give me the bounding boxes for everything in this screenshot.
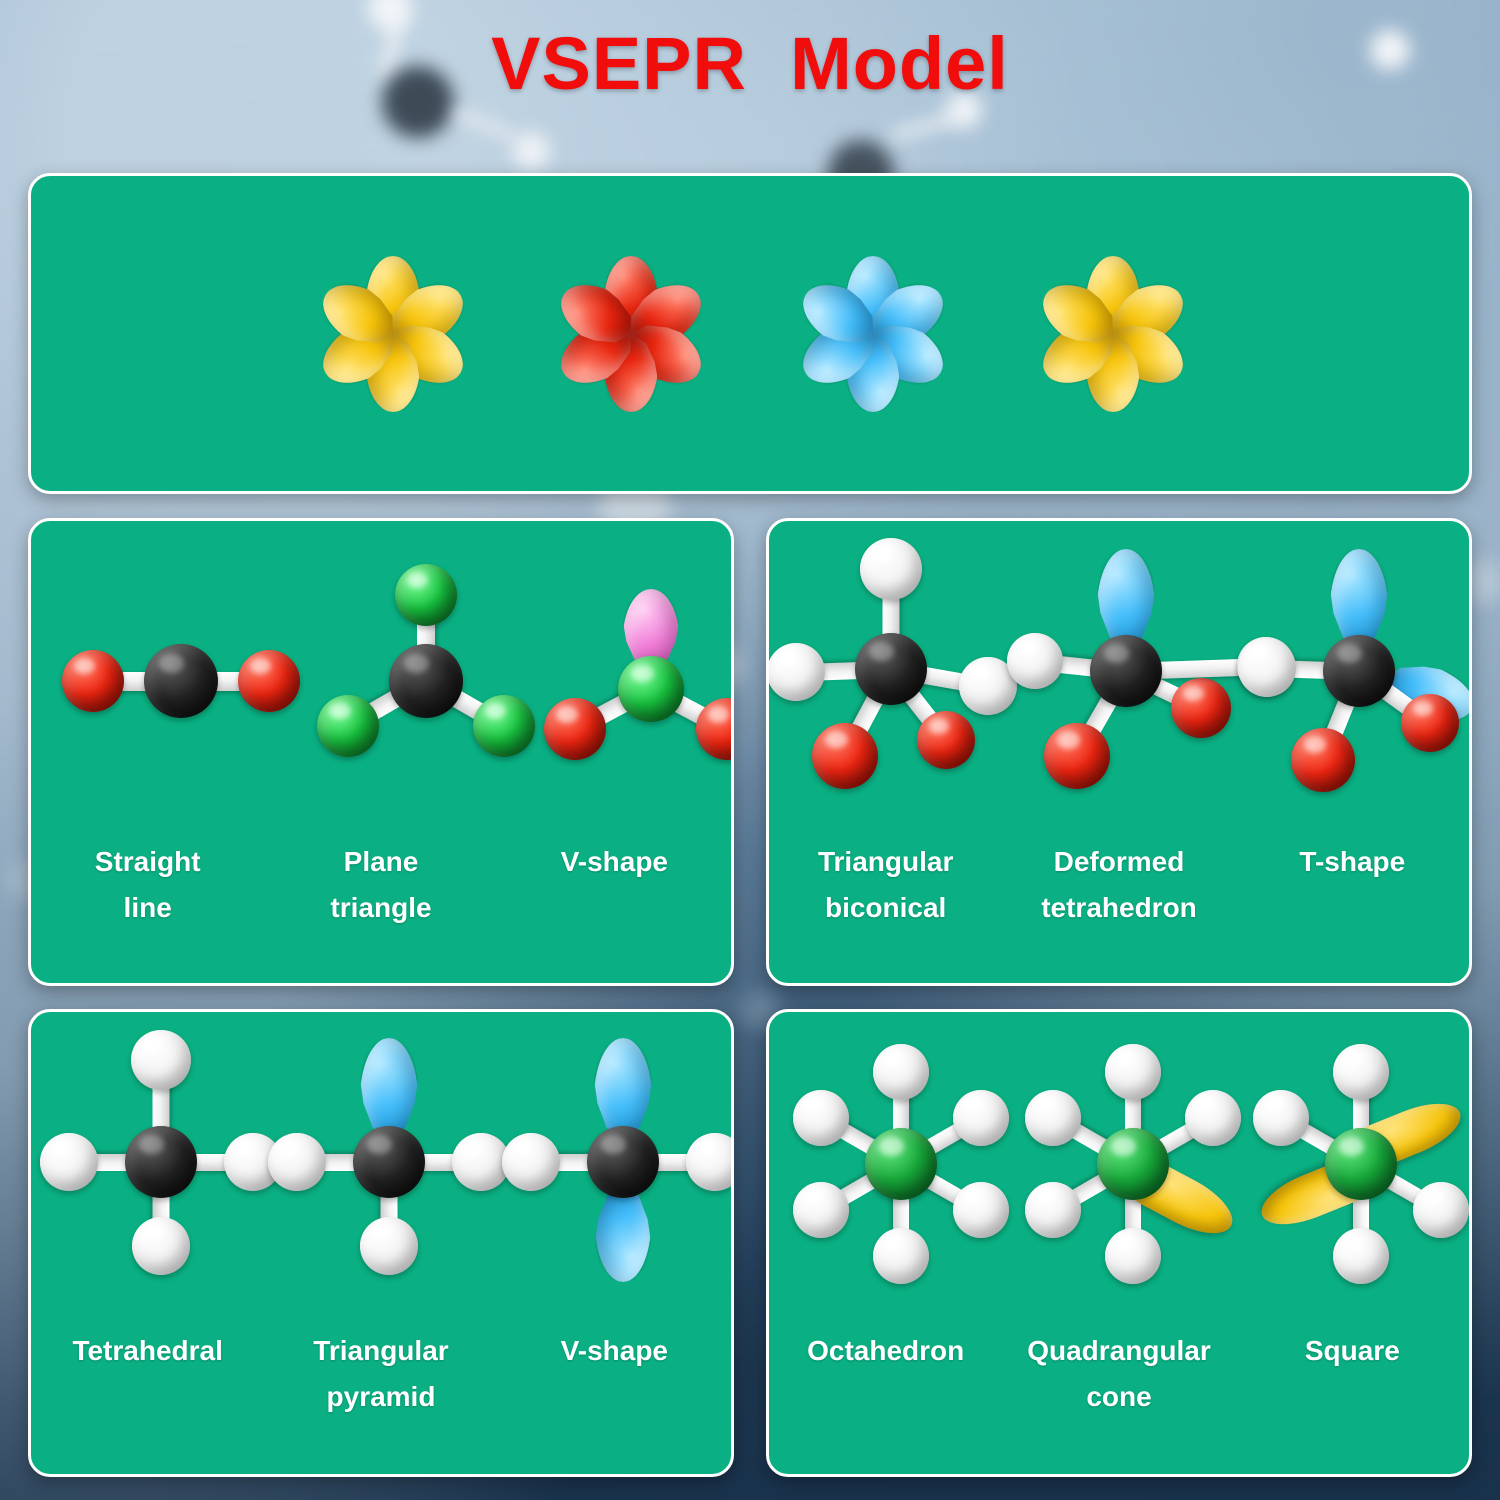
label-straight-line: Straight line	[31, 839, 264, 931]
atom-white	[1238, 639, 1296, 697]
label-t-shape: T-shape	[1236, 839, 1469, 931]
label-line2: cone	[1006, 1374, 1231, 1420]
molecule-stage	[769, 521, 1469, 841]
label-triangular-pyramid: Triangular pyramid	[264, 1328, 497, 1420]
atom-white	[1333, 1044, 1389, 1100]
atom-white	[502, 1133, 560, 1191]
label-line2: triangle	[268, 885, 493, 931]
panel-two-three-domain: Straight line Plane triangle V-shape	[28, 518, 734, 986]
atom-green-center	[1325, 1128, 1397, 1200]
label-v-shape: V-shape	[498, 839, 731, 931]
molecule-v-shape-green	[31, 521, 731, 841]
label-line1: Deformed	[1054, 846, 1185, 877]
molecule-stage	[31, 1012, 731, 1332]
label-line1: V-shape	[561, 1335, 668, 1366]
label-row-two-three-domain: Straight line Plane triangle V-shape	[31, 839, 731, 931]
label-deformed-tetrahedron: Deformed tetrahedron	[1002, 839, 1235, 931]
label-line1: Triangular	[313, 1335, 448, 1366]
atom-white	[1333, 1228, 1389, 1284]
lone-pair-blue	[594, 1038, 652, 1140]
label-octahedron: Octahedron	[769, 1328, 1002, 1420]
lone-pair-blue	[595, 1184, 651, 1282]
panel-four-domain: Tetrahedral Triangular pyramid V-shape	[28, 1009, 734, 1477]
label-line1: Tetrahedral	[72, 1335, 222, 1366]
label-triangular-biconical: Triangular biconical	[769, 839, 1002, 931]
label-line1: Triangular	[818, 846, 953, 877]
atom-red	[1401, 694, 1459, 752]
label-line2: line	[35, 885, 260, 931]
label-quadrangular-cone: Quadrangular cone	[1002, 1328, 1235, 1420]
label-line1: T-shape	[1299, 846, 1405, 877]
label-v-shape: V-shape	[498, 1328, 731, 1420]
panel-five-domain: Triangular biconical Deformed tetrahedro…	[766, 518, 1472, 986]
panel-lone-pair-tray	[28, 173, 1472, 494]
label-row-six-domain: Octahedron Quadrangular cone Square	[769, 1328, 1469, 1420]
atom-white	[686, 1133, 734, 1191]
background-atom-blur	[512, 132, 550, 170]
molecule-t-shape	[769, 521, 1469, 841]
label-line2: pyramid	[268, 1374, 493, 1420]
lone-pair-blue	[1330, 549, 1388, 649]
atom-black-center	[1323, 635, 1395, 707]
label-line1: V-shape	[561, 846, 668, 877]
label-line1: Quadrangular	[1027, 1335, 1211, 1366]
page-title: VSEPR Model	[0, 18, 1500, 110]
label-line2: tetrahedron	[1006, 885, 1231, 931]
atom-green-center	[618, 656, 684, 722]
label-line1: Straight	[95, 846, 201, 877]
atom-white	[1413, 1182, 1469, 1238]
atom-white	[1253, 1090, 1309, 1146]
atom-red	[544, 698, 606, 760]
molecule-stage	[31, 521, 731, 841]
label-row-five-domain: Triangular biconical Deformed tetrahedro…	[769, 839, 1469, 931]
atom-red	[1291, 728, 1355, 792]
label-tetrahedral: Tetrahedral	[31, 1328, 264, 1420]
panel-six-domain: Octahedron Quadrangular cone Square	[766, 1009, 1472, 1477]
atom-black-center	[587, 1126, 659, 1198]
label-line1: Plane	[344, 846, 419, 877]
label-line1: Octahedron	[807, 1335, 964, 1366]
label-row-four-domain: Tetrahedral Triangular pyramid V-shape	[31, 1328, 731, 1420]
molecule-square	[769, 1012, 1469, 1332]
label-square: Square	[1236, 1328, 1469, 1420]
label-line1: Square	[1305, 1335, 1400, 1366]
molecule-stage	[769, 1012, 1469, 1332]
label-line2: biconical	[773, 885, 998, 931]
label-plane-triangle: Plane triangle	[264, 839, 497, 931]
molecule-v-shape-black	[31, 1012, 731, 1332]
lone-pair-cluster-stage	[31, 176, 1469, 491]
